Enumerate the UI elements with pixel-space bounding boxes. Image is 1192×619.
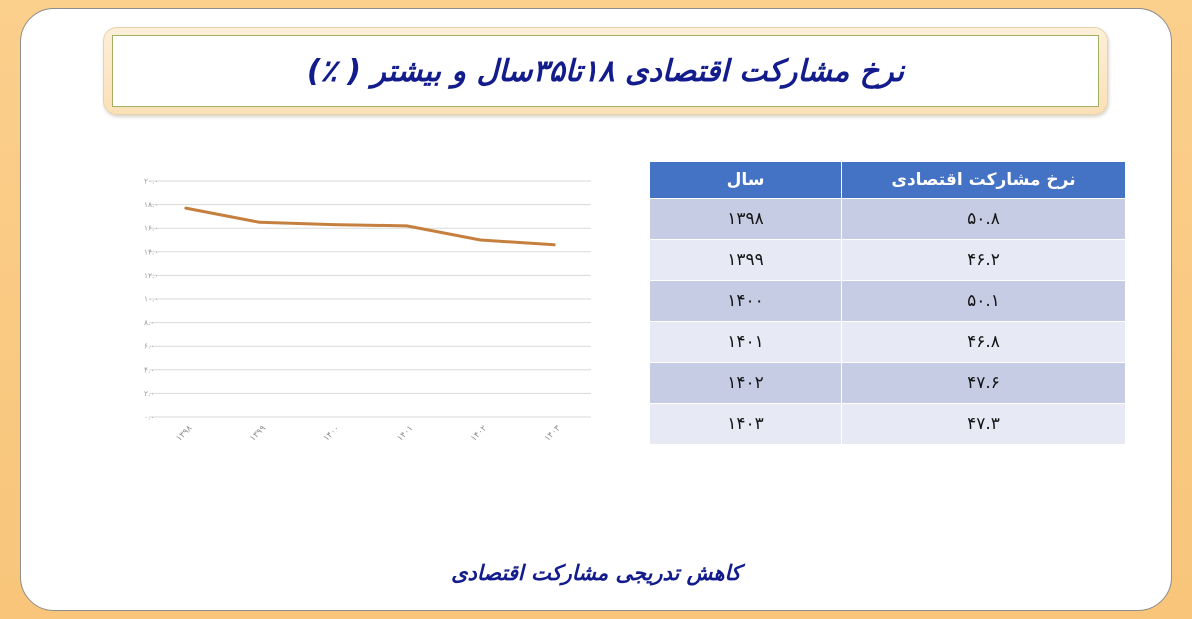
chart-ytick-labels: ۰.۰۲.۰۴.۰۶.۰۸.۰۱۰.۰۱۲.۰۱۴.۰۱۶.۰۱۸.۰۲۰.۰: [144, 177, 158, 422]
table-cell-rate: ۴۷.۳: [842, 404, 1126, 445]
table-row: ۵۰.۱۱۴۰۰: [650, 281, 1126, 322]
chart-ytick-label: ۱۲.۰: [144, 271, 158, 280]
table-header-row: نرخ مشارکت اقتصادی سال: [650, 162, 1126, 199]
table-header-rate: نرخ مشارکت اقتصادی: [842, 162, 1126, 199]
table-cell-year: ۱۳۹۹: [650, 240, 842, 281]
chart-ytick-label: ۱۴.۰: [144, 247, 158, 256]
table-head: نرخ مشارکت اقتصادی سال: [650, 162, 1126, 199]
table-row: ۴۷.۳۱۴۰۳: [650, 404, 1126, 445]
chart-ytick-label: ۲۰.۰: [144, 177, 158, 186]
table-cell-rate: ۵۰.۸: [842, 199, 1126, 240]
chart-gridlines: [149, 181, 591, 417]
page-title: نرخ مشارکت اقتصادی ۱۸تا۳۵سال و بیشتر ( ٪…: [307, 54, 904, 89]
table-cell-rate: ۴۶.۸: [842, 322, 1126, 363]
chart-xtick-label: ۱۴۰۰: [322, 424, 342, 444]
footer-note: کاهش تدریجی مشارکت اقتصادی: [21, 561, 1171, 585]
chart-ytick-label: ۱۰.۰: [144, 295, 158, 304]
slide-title-frame: نرخ مشارکت اقتصادی ۱۸تا۳۵سال و بیشتر ( ٪…: [103, 27, 1108, 115]
chart-xtick-label: ۱۳۹۸: [174, 423, 194, 443]
line-chart: ۰.۰۲.۰۴.۰۶.۰۸.۰۱۰.۰۱۲.۰۱۴.۰۱۶.۰۱۸.۰۲۰.۰ …: [121, 159, 621, 459]
chart-xtick-label: ۱۴۰۲: [469, 423, 489, 443]
table-header-year: سال: [650, 162, 842, 199]
table-cell-year: ۱۳۹۸: [650, 199, 842, 240]
chart-svg: ۰.۰۲.۰۴.۰۶.۰۸.۰۱۰.۰۱۲.۰۱۴.۰۱۶.۰۱۸.۰۲۰.۰ …: [121, 159, 621, 459]
table-row: ۴۶.۸۱۴۰۱: [650, 322, 1126, 363]
table-row: ۵۰.۸۱۳۹۸: [650, 199, 1126, 240]
chart-ytick-label: ۱۶.۰: [144, 224, 158, 233]
table-body: ۵۰.۸۱۳۹۸۴۶.۲۱۳۹۹۵۰.۱۱۴۰۰۴۶.۸۱۴۰۱۴۷.۶۱۴۰۲…: [650, 199, 1126, 445]
table-row: ۴۶.۲۱۳۹۹: [650, 240, 1126, 281]
chart-ytick-label: ۴.۰: [144, 365, 154, 374]
slide-title-inner-frame: نرخ مشارکت اقتصادی ۱۸تا۳۵سال و بیشتر ( ٪…: [112, 35, 1099, 107]
table-cell-rate: ۴۶.۲: [842, 240, 1126, 281]
chart-ytick-label: ۶.۰: [144, 342, 154, 351]
table-cell-year: ۱۴۰۲: [650, 363, 842, 404]
table-row: ۴۷.۶۱۴۰۲: [650, 363, 1126, 404]
chart-series-line: [186, 208, 554, 245]
table-cell-year: ۱۴۰۱: [650, 322, 842, 363]
table-cell-rate: ۵۰.۱: [842, 281, 1126, 322]
chart-xtick-label: ۱۳۹۹: [248, 423, 268, 443]
chart-xtick-label: ۱۴۰۱: [395, 424, 415, 444]
table-cell-year: ۱۴۰۳: [650, 404, 842, 445]
chart-ytick-label: ۱۸.۰: [144, 200, 158, 209]
table-cell-rate: ۴۷.۶: [842, 363, 1126, 404]
chart-xtick-labels: ۱۳۹۸۱۳۹۹۱۴۰۰۱۴۰۱۱۴۰۲۱۴۰۳: [174, 423, 563, 443]
chart-xtick-label: ۱۴۰۳: [543, 423, 563, 443]
chart-ytick-label: ۸.۰: [144, 318, 154, 327]
slide-canvas: نرخ مشارکت اقتصادی ۱۸تا۳۵سال و بیشتر ( ٪…: [0, 0, 1192, 619]
chart-ytick-label: ۲.۰: [144, 389, 154, 398]
slide-content-area: نرخ مشارکت اقتصادی ۱۸تا۳۵سال و بیشتر ( ٪…: [20, 8, 1172, 611]
data-table: نرخ مشارکت اقتصادی سال ۵۰.۸۱۳۹۸۴۶.۲۱۳۹۹۵…: [649, 161, 1126, 445]
chart-ytick-label: ۰.۰: [144, 413, 154, 422]
table-cell-year: ۱۴۰۰: [650, 281, 842, 322]
